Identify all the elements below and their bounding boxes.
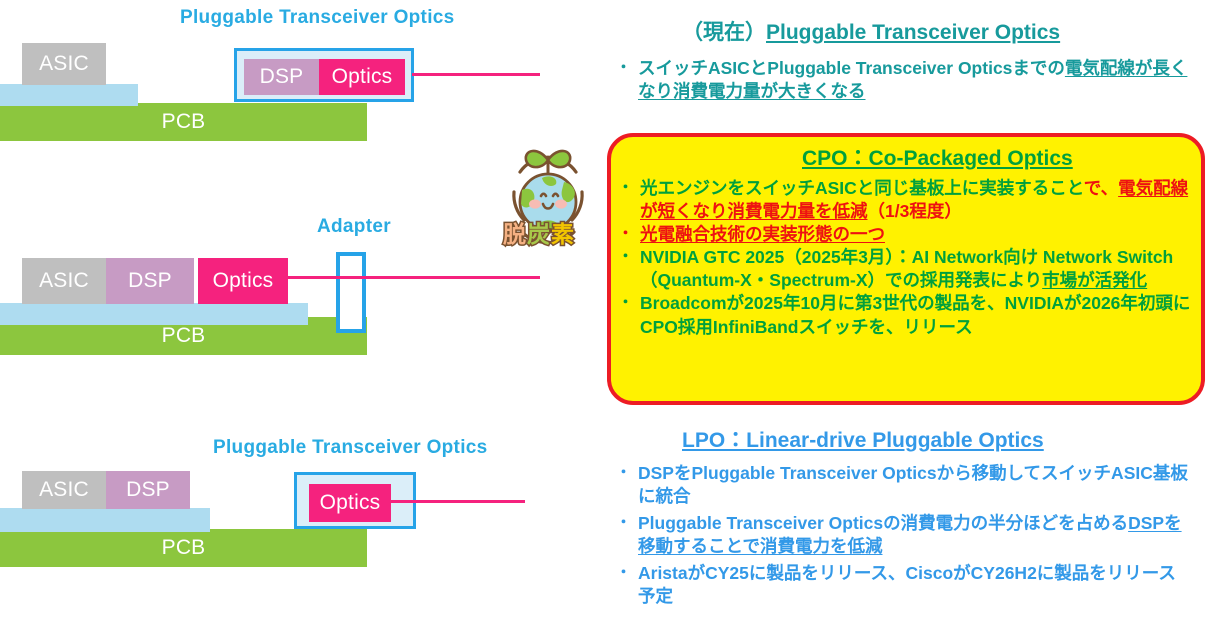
- bullet-lpo-2: ・ Pluggable Transceiver Opticsの消費電力の半分ほど…: [616, 512, 1188, 558]
- diagram-title-adapter: Adapter: [317, 216, 391, 238]
- bullet-marker: ・: [618, 177, 640, 200]
- asic-label-3: ASIC: [39, 478, 89, 502]
- dsp-label-3: DSP: [126, 478, 170, 502]
- run-plain: 光エンジンをスイッチASICと同じ基板上に実装すること: [640, 178, 1084, 198]
- section-title-cpo: CPO：Co-Packaged Optics: [802, 142, 1073, 172]
- dsp-block-3: DSP: [106, 471, 190, 509]
- pcb-block-3: PCB: [0, 529, 367, 567]
- bullet-marker: ・: [616, 512, 638, 535]
- run-plain: Pluggable Transceiver Opticsの消費電力の半分ほどを占…: [638, 513, 1128, 533]
- fiber-line-3: [385, 500, 525, 503]
- section-title-lpo: LPO：Linear-drive Pluggable Optics: [682, 424, 1044, 454]
- optics-label-3: Optics: [320, 491, 381, 515]
- bullet-cpo-4: ・ Broadcomが2025年10月に第3世代の製品を、NVIDIAが2026…: [618, 292, 1196, 338]
- run-underline: 光電融合技術の実装形態の一つ: [640, 224, 885, 244]
- bullet-marker: ・: [616, 57, 638, 80]
- bullet-marker: ・: [616, 562, 638, 585]
- substrate-block-3: [0, 508, 210, 532]
- run-plain: AristaがCY25に製品をリリース、CiscoがCY26H2に製品をリリース…: [638, 563, 1176, 606]
- run-plain: Broadcomが2025年10月に第3世代の製品を、NVIDIAが2026年初…: [640, 293, 1190, 336]
- optics-block-1: Optics: [319, 59, 405, 95]
- mascot-char-1: 脱: [503, 215, 527, 249]
- bullet-lpo-1: ・ DSPをPluggable Transceiver Opticsから移動して…: [616, 462, 1188, 508]
- bullet-marker: ・: [618, 292, 640, 315]
- mascot-char-3: 素: [551, 215, 575, 249]
- bullet-text: 光エンジンをスイッチASICと同じ基板上に実装することで、電気配線が短くなり消費…: [640, 177, 1196, 223]
- run-plain: （1/3程度）: [868, 201, 962, 221]
- asic-label-2: ASIC: [39, 269, 89, 293]
- run-underline: 市場が活発化: [1042, 270, 1147, 290]
- diagram-title-pluggable-current: Pluggable Transceiver Optics: [180, 7, 455, 29]
- optics-block-3: Optics: [309, 484, 391, 522]
- bullet-lpo-3: ・ AristaがCY25に製品をリリース、CiscoがCY26H2に製品をリリ…: [616, 562, 1188, 608]
- diagram-title-pluggable-lpo: Pluggable Transceiver Optics: [213, 437, 488, 459]
- run-plain: DSPをPluggable Transceiver Opticsから移動してスイ…: [638, 463, 1188, 506]
- run-plain: の: [1047, 58, 1065, 78]
- optics-label-1: Optics: [332, 65, 393, 89]
- pcb-block-1: PCB: [0, 103, 367, 141]
- bullet-cpo-2: ・ 光電融合技術の実装形態の一つ: [618, 223, 1196, 246]
- fiber-line-2: [287, 276, 540, 279]
- asic-block-2: ASIC: [22, 258, 106, 304]
- section-title-current: （現在）Pluggable Transceiver Optics: [682, 16, 1060, 46]
- asic-label-1: ASIC: [39, 52, 89, 76]
- run-plain: スイッチASICとPluggable Transceiver Opticsまで: [638, 58, 1047, 78]
- asic-block-3: ASIC: [22, 471, 106, 509]
- bullet-cpo-1: ・ 光エンジンをスイッチASICと同じ基板上に実装することで、電気配線が短くなり…: [618, 177, 1196, 223]
- mascot-label: 脱炭素: [503, 215, 575, 249]
- substrate-block-1: [0, 84, 138, 106]
- bullet-text: 光電融合技術の実装形態の一つ: [640, 223, 1196, 246]
- dsp-block-1: DSP: [244, 59, 319, 95]
- optics-block-2: Optics: [198, 258, 288, 304]
- bullet-text: Pluggable Transceiver Opticsの消費電力の半分ほどを占…: [638, 512, 1188, 558]
- pcb-label-3: PCB: [162, 536, 206, 560]
- bullet-text: DSPをPluggable Transceiver Opticsから移動してスイ…: [638, 462, 1188, 508]
- optics-label-2: Optics: [213, 269, 274, 293]
- bullet-current-1: ・ スイッチASICとPluggable Transceiver Opticsま…: [616, 57, 1196, 103]
- pluggable-module-1: DSP Optics: [234, 48, 414, 102]
- bullet-text: Broadcomが2025年10月に第3世代の製品を、NVIDIAが2026年初…: [640, 292, 1196, 338]
- bullet-text: NVIDIA GTC 2025（2025年3月）：AI Network向け Ne…: [640, 246, 1196, 292]
- dsp-block-2: DSP: [106, 258, 194, 304]
- slide-canvas: Pluggable Transceiver Optics PCB ASIC DS…: [0, 0, 1212, 629]
- mascot-char-2: 炭: [527, 215, 551, 249]
- bullet-marker: ・: [618, 223, 640, 246]
- run-plain: で、: [1084, 178, 1118, 198]
- bullet-marker: ・: [616, 462, 638, 485]
- dsp-label-2: DSP: [128, 269, 172, 293]
- adapter-block: [336, 252, 366, 333]
- bullet-marker: ・: [618, 246, 640, 269]
- pcb-label-1: PCB: [162, 110, 206, 134]
- bullet-text: AristaがCY25に製品をリリース、CiscoがCY26H2に製品をリリース…: [638, 562, 1188, 608]
- bullet-text: スイッチASICとPluggable Transceiver Opticsまでの…: [638, 57, 1196, 103]
- section-title-current-prefix: （現在）: [682, 21, 766, 44]
- asic-block-1: ASIC: [22, 43, 106, 85]
- pcb-label-2: PCB: [162, 324, 206, 348]
- section-title-current-main: Pluggable Transceiver Optics: [766, 21, 1060, 44]
- dsp-label-1: DSP: [260, 65, 304, 89]
- substrate-block-2: [0, 303, 308, 325]
- bullet-cpo-3: ・ NVIDIA GTC 2025（2025年3月）：AI Network向け …: [618, 246, 1196, 292]
- fiber-line-1: [412, 73, 540, 76]
